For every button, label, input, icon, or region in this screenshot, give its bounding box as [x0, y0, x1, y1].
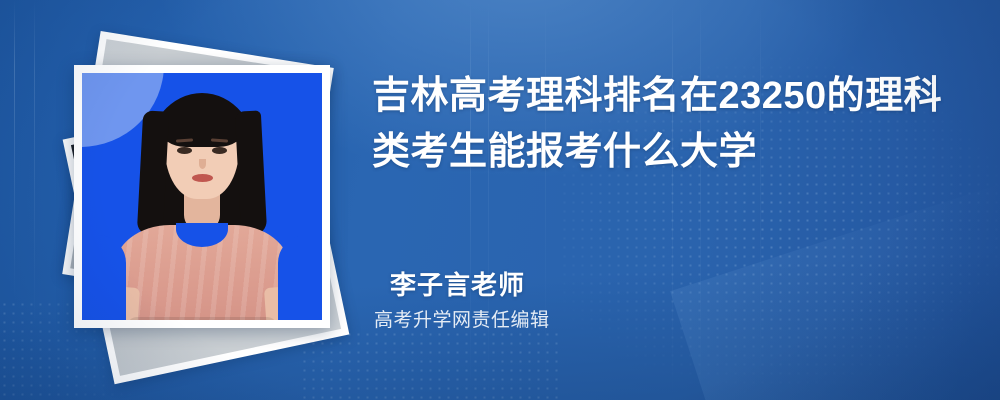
page-title: 吉林高考理科排名在23250的理科 类考生能报考什么大学 — [372, 68, 952, 180]
hair-right-strand — [235, 110, 267, 235]
title-line-2: 类考生能报考什么大学 — [372, 124, 952, 180]
eye-right — [212, 147, 227, 154]
avatar — [82, 73, 322, 320]
shoulder-cutout-right — [278, 235, 312, 320]
byline: 李子言老师 高考升学网责任编辑 — [390, 268, 550, 334]
light-streak — [34, 0, 35, 330]
light-streak — [14, 0, 15, 300]
mouth — [192, 174, 213, 182]
waistband — [127, 317, 277, 320]
author-role: 高考升学网责任编辑 — [374, 308, 550, 334]
portrait-photo — [82, 73, 322, 320]
shoulder-cutout-left — [92, 235, 126, 320]
article-cover-banner: 吉林高考理科排名在23250的理科 类考生能报考什么大学 李子言老师 高考升学网… — [0, 0, 1000, 400]
title-line-1: 吉林高考理科排名在23250的理科 — [372, 68, 952, 124]
portrait-frame — [74, 65, 330, 328]
eye-left — [177, 147, 192, 154]
author-name: 李子言老师 — [390, 268, 550, 302]
photo-stack — [50, 40, 350, 360]
nose — [199, 159, 206, 169]
text-column: 吉林高考理科排名在23250的理科 类考生能报考什么大学 李子言老师 高考升学网… — [372, 0, 972, 400]
